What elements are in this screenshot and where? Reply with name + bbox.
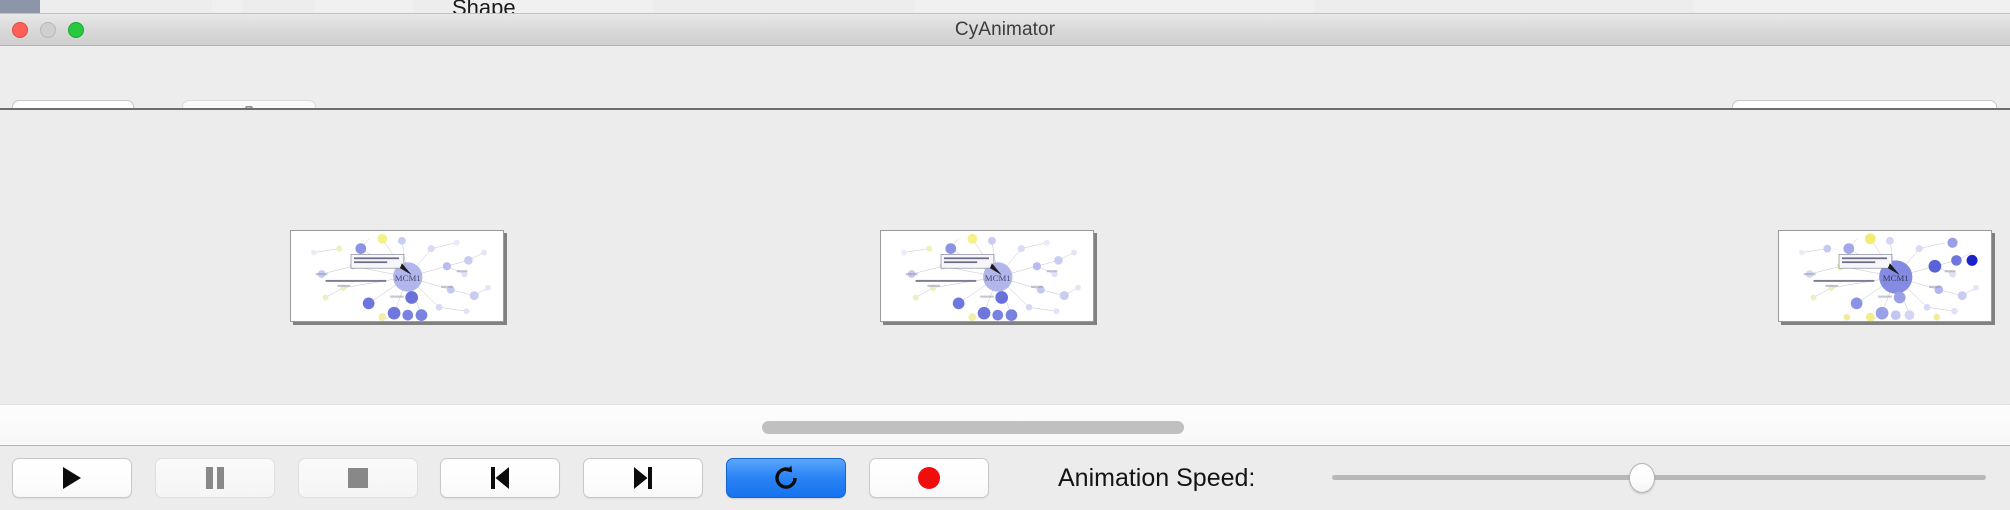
- pause-icon: [204, 466, 226, 490]
- last-frame-button[interactable]: [583, 458, 703, 498]
- first-frame-button[interactable]: [440, 458, 560, 498]
- frame-timeline-panel[interactable]: MCM1: [0, 110, 2010, 404]
- pause-button[interactable]: [155, 458, 275, 498]
- playback-bar: Animation Speed:: [0, 445, 2010, 510]
- svg-text:MCM1: MCM1: [1883, 273, 1909, 283]
- svg-text:MCM1: MCM1: [395, 273, 421, 283]
- bg-chunk: [914, 0, 1315, 14]
- title-bar: CyAnimator: [0, 14, 2010, 46]
- record-button[interactable]: [869, 458, 989, 498]
- bg-chunk: [1314, 0, 1695, 14]
- window-title: CyAnimator: [0, 14, 2010, 46]
- play-button[interactable]: [12, 458, 132, 498]
- bg-chunk: [0, 0, 41, 14]
- bg-chunk: [212, 0, 243, 14]
- slider-thumb[interactable]: [1629, 463, 1655, 493]
- loop-icon: [772, 464, 800, 492]
- bg-chunk: [314, 0, 415, 14]
- animation-speed-slider[interactable]: [1332, 458, 1986, 498]
- skip-back-icon: [488, 466, 512, 490]
- slider-track[interactable]: [1332, 475, 1986, 480]
- bg-chunk: [1694, 0, 2010, 14]
- stop-button[interactable]: [298, 458, 418, 498]
- toolbar: Clear All Frames: [0, 46, 2010, 109]
- svg-text:MCM1: MCM1: [985, 273, 1011, 283]
- bg-chunk: [654, 0, 915, 14]
- network-graph-icon: MCM1: [881, 231, 1093, 321]
- network-graph-icon: MCM1: [291, 231, 503, 321]
- record-icon: [917, 466, 941, 490]
- network-graph-icon: MCM1: [1779, 231, 1991, 321]
- play-icon: [60, 465, 84, 491]
- animation-speed-label: Animation Speed:: [1058, 458, 1255, 498]
- frame-thumbnail[interactable]: MCM1: [880, 230, 1094, 322]
- loop-button[interactable]: [726, 458, 846, 498]
- cyanimator-window: Shape CyAnimator Clear All Frames: [0, 0, 2010, 510]
- frame-thumbnail[interactable]: MCM1: [1778, 230, 1992, 322]
- bg-chunk: [40, 0, 213, 14]
- frame-thumbnail[interactable]: MCM1: [290, 230, 504, 322]
- bg-chunk: [242, 0, 315, 14]
- background-window-label: Shape: [452, 0, 516, 14]
- timeline-scrollbar-thumb[interactable]: [762, 421, 1184, 434]
- stop-icon: [347, 467, 369, 489]
- background-window-strip: Shape: [0, 0, 2010, 14]
- skip-forward-icon: [631, 466, 655, 490]
